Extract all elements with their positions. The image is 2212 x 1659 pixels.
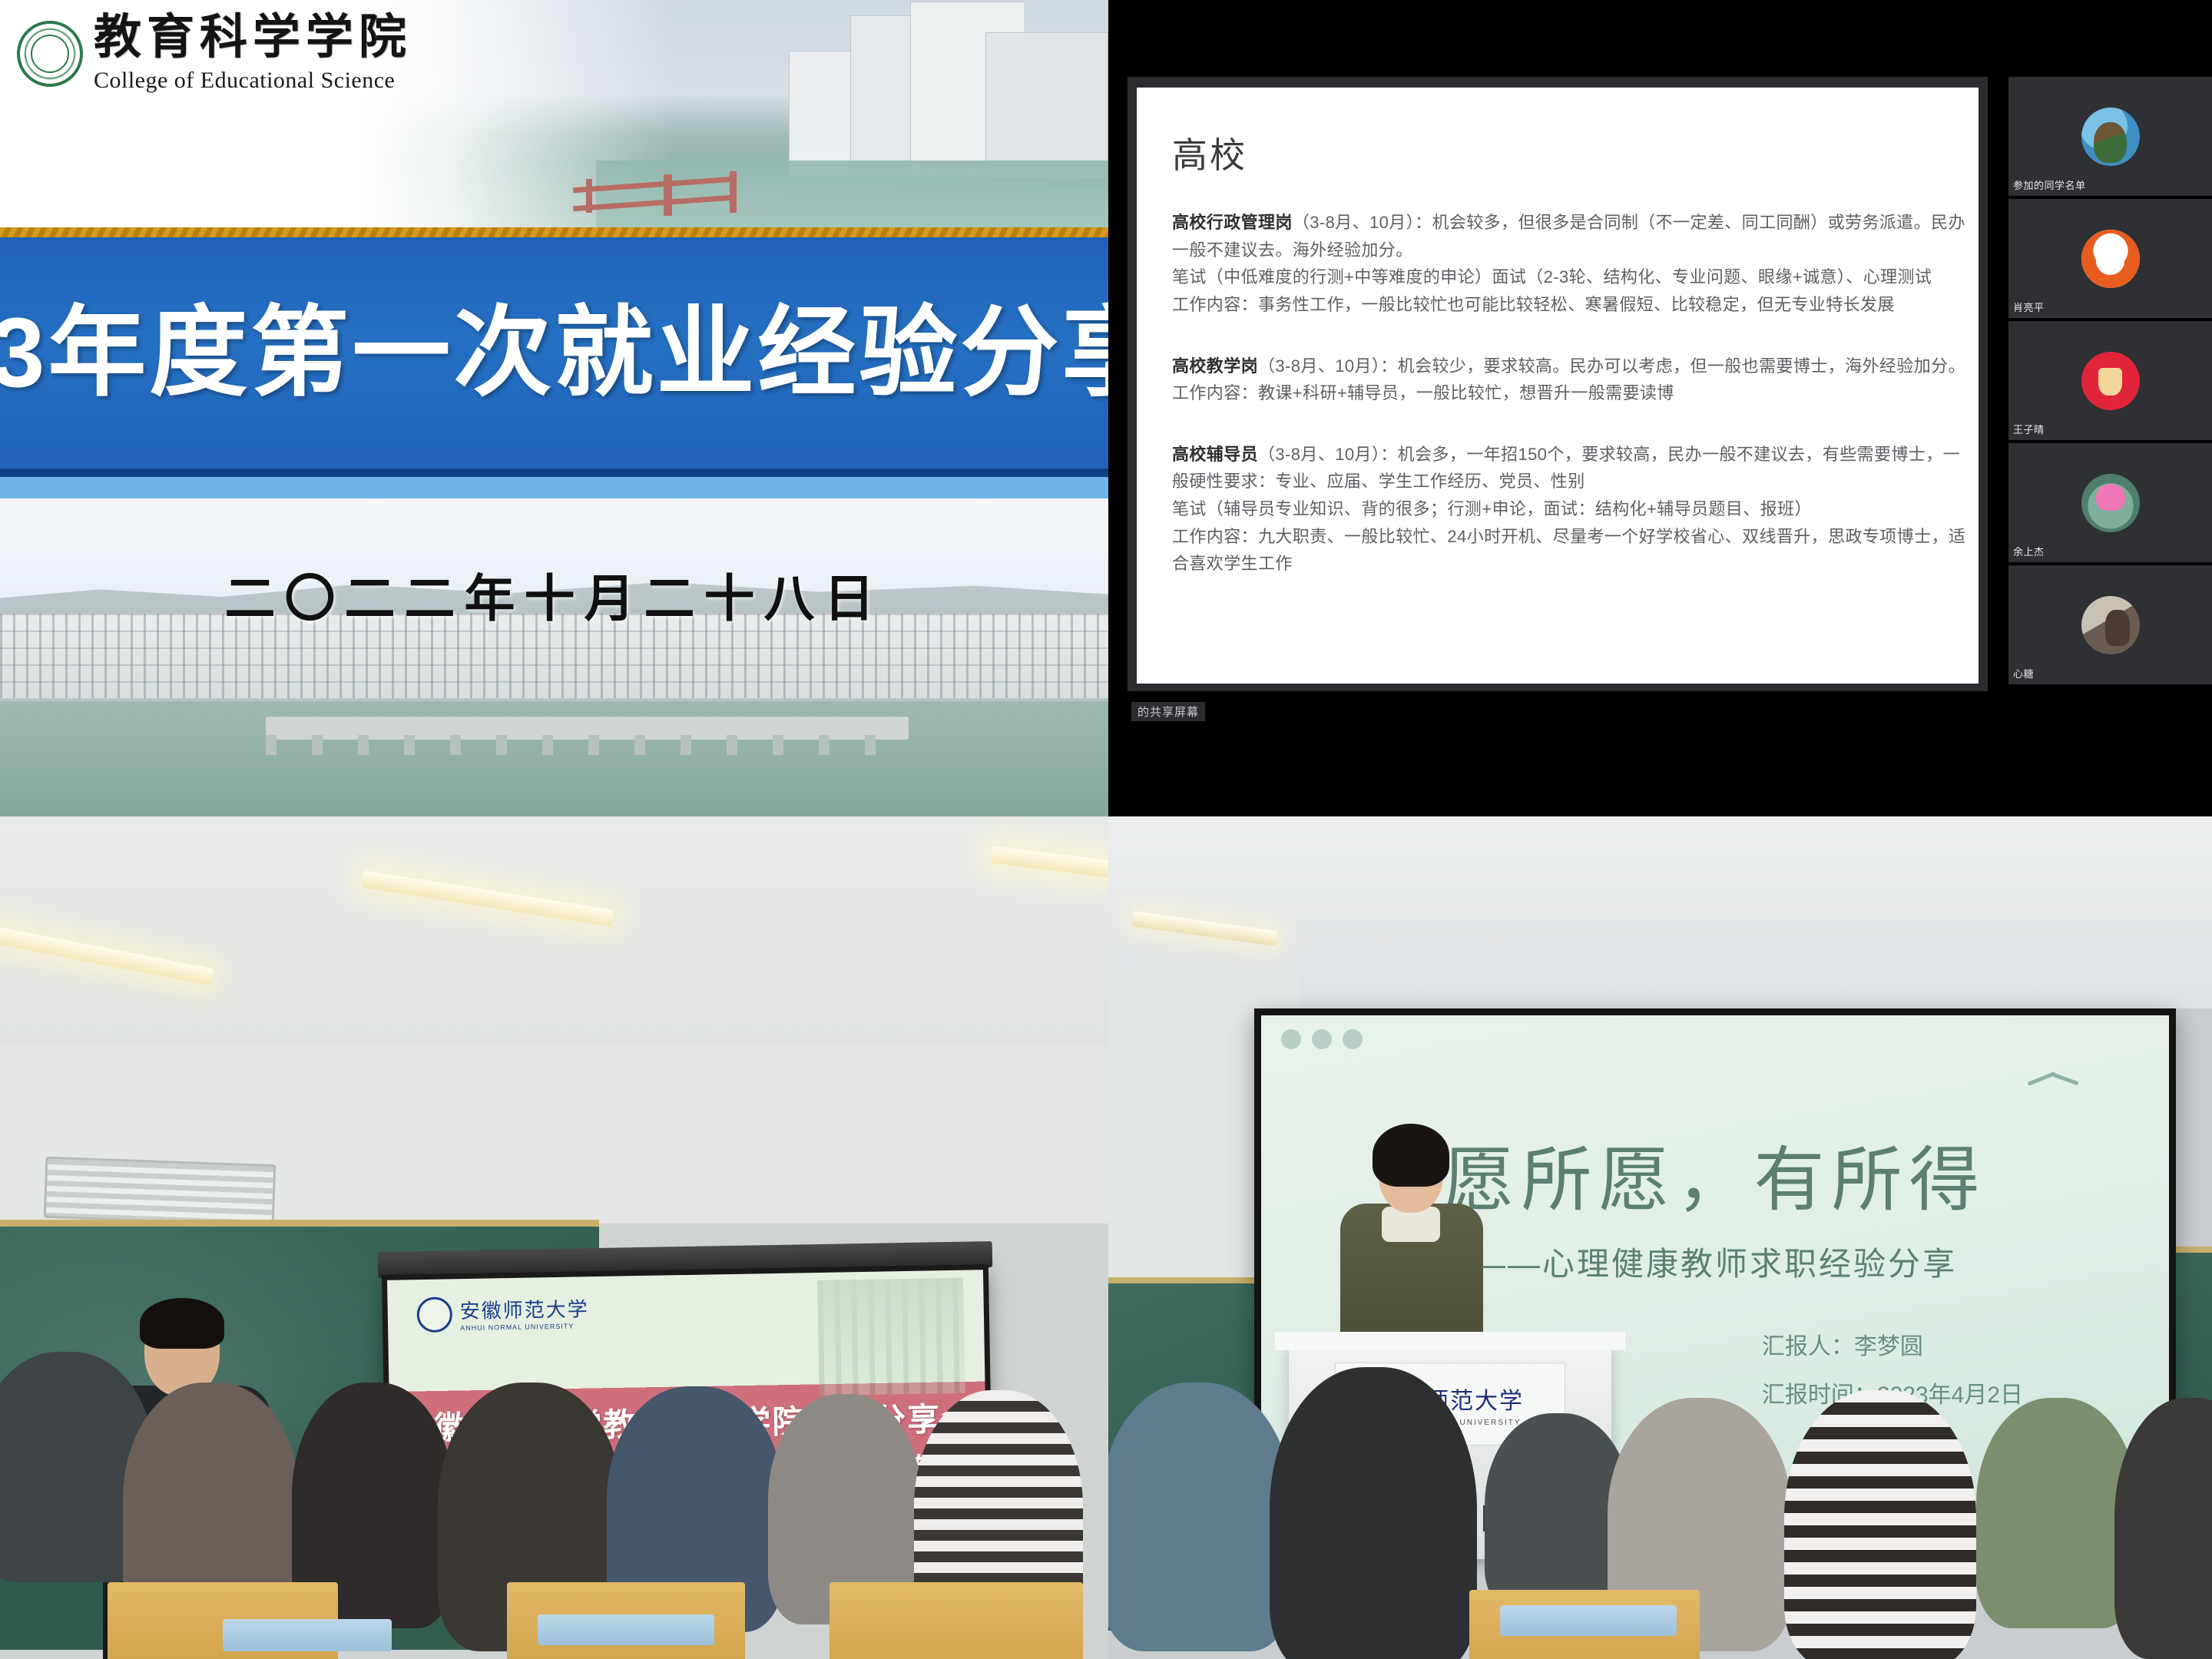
slide-decor-icons [1281, 1029, 1363, 1049]
university-name-cn: 安徽师范大学 [459, 1293, 589, 1324]
participant-tile[interactable]: 心糖 [2008, 565, 2212, 684]
desk [829, 1582, 1083, 1659]
slide-line: 笔试（中低难度的行测+中等难度的申论）面试（2-3轮、结构化、专业问题、眼缘+诚… [1172, 263, 1943, 291]
shared-screen-caption: 的共享屏幕 [1131, 702, 1205, 721]
wooden-rail [573, 174, 734, 217]
avatar [2081, 596, 2140, 654]
participant-name: 肖亮平 [2013, 300, 2045, 314]
panel-online-meeting: 高校 高校行政管理岗（3-8月、10月）：机会较多，但很多是合同制（不一定差、同… [1108, 0, 2212, 816]
panel-classroom-speaker: 愿所愿，有所得 ——心理健康教师求职经验分享 汇报人：李梦圆 汇报时间：2023… [1108, 816, 2212, 1659]
slide-line: 工作内容：事务性工作，一般比较忙也可能比较轻松、寒暑假短、比较稳定，但无专业特长… [1172, 291, 1943, 319]
slide-line: 般硬性要求：专业、应届、学生工作经历、党员、性别 [1172, 468, 1943, 495]
bridge-shape [266, 717, 909, 740]
bird-icon [2027, 1069, 2081, 1094]
avatar [2081, 352, 2140, 410]
audience-person [1108, 1382, 1293, 1651]
slide-building-watermark [817, 1278, 965, 1396]
poster-date: 二〇二二年十月二十八日 [0, 558, 1108, 631]
slide-line: 高校教学岗（3-8月、10月）：机会较少，要求较高。民办可以考虑，但一般也需要博… [1172, 353, 1943, 380]
slide-block: 高校行政管理岗（3-8月、10月）：机会较多，但很多是合同制（不一定差、同工同酬… [1172, 209, 1943, 319]
photo-collage: 教育科学学院 College of Educational Science 23… [0, 0, 2212, 1659]
audience-person [1976, 1398, 2137, 1628]
wall-vent [44, 1157, 276, 1226]
college-seal-icon [17, 21, 83, 87]
desk-surface [223, 1619, 392, 1651]
poster-footer-photo [0, 498, 1108, 816]
poster-campus-photo [355, 0, 1108, 234]
slide-title: 高校 [1172, 127, 1943, 178]
audience-person [1784, 1390, 1976, 1659]
avatar [2081, 474, 2140, 532]
desk-surface [538, 1614, 714, 1645]
banner-underline [0, 469, 1108, 477]
poster-banner-title: 23年度第一次就业经验分享 [0, 304, 1108, 402]
avatar [2081, 230, 2140, 288]
panel-classroom-host: 安徽师范大学 ANHUI NORMAL UNIVERSITY 安徽师范大学教育科… [0, 816, 1108, 1659]
panel-poster: 教育科学学院 College of Educational Science 23… [0, 0, 1108, 816]
slide-line: 笔试（辅导员专业知识、背的很多；行测+申论，面试：结构化+辅导员题目、报班） [1172, 495, 1943, 523]
participant-name: 王子晴 [2013, 422, 2045, 436]
slide-line: 合喜欢学生工作 [1172, 550, 1943, 578]
slide-line: 工作内容：教课+科研+辅导员，一般比较忙，想晋升一般需要读博 [1172, 379, 1943, 407]
slide-block: 高校辅导员（3-8月、10月）：机会多，一年招150个，要求较高，民办一般不建议… [1172, 441, 1943, 578]
college-name-en: College of Educational Science [94, 68, 412, 94]
university-name-en: ANHUI NORMAL UNIVERSITY [460, 1322, 589, 1332]
slide-line: 一般不建议去。海外经验加分。 [1172, 237, 1943, 264]
podium-top [1275, 1332, 1625, 1350]
speaker-person [1339, 1133, 1485, 1356]
participant-name: 余上杰 [2013, 544, 2045, 558]
gold-divider [0, 227, 1108, 237]
meeting-window: 高校 高校行政管理岗（3-8月、10月）：机会较多，但很多是合同制（不一定差、同… [1108, 0, 2212, 816]
shared-screen-frame: 高校 高校行政管理岗（3-8月、10月）：机会较多，但很多是合同制（不一定差、同… [1128, 77, 1988, 691]
slide-line: 工作内容：九大职责、一般比较忙、24小时开机、尽量考一个好学校省心、双线晋升，思… [1172, 523, 1943, 551]
participant-tile[interactable]: 王子晴 [2008, 321, 2212, 440]
shared-slide: 高校 高校行政管理岗（3-8月、10月）：机会较多，但很多是合同制（不一定差、同… [1137, 88, 1979, 684]
avatar [2081, 108, 2140, 166]
slide-line: 高校辅导员（3-8月、10月）：机会多，一年招150个，要求较高，民办一般不建议… [1172, 441, 1943, 469]
participant-tiles: 参加的同学名单 肖亮平 王子晴 余上杰 心糖 [2008, 77, 2212, 687]
college-logo: 教育科学学院 College of Educational Science [17, 14, 412, 94]
slide-reporter: 汇报人：李梦圆 [1762, 1323, 2023, 1371]
building-shape [985, 32, 1108, 178]
building-shape [789, 51, 859, 177]
participant-name: 心糖 [2013, 666, 2034, 680]
participant-tile[interactable]: 肖亮平 [2008, 199, 2212, 318]
banner-underline-light [0, 477, 1108, 498]
participant-name: 参加的同学名单 [2013, 177, 2086, 192]
university-logo: 安徽师范大学 ANHUI NORMAL UNIVERSITY [416, 1293, 589, 1333]
university-seal-icon [416, 1296, 452, 1333]
ceiling [0, 816, 1108, 1070]
poster-banner: 23年度第一次就业经验分享 [0, 237, 1108, 469]
slide-line: 高校行政管理岗（3-8月、10月）：机会较多，但很多是合同制（不一定差、同工同酬… [1172, 209, 1943, 237]
participant-tile[interactable]: 余上杰 [2008, 443, 2212, 562]
desk-surface [1500, 1605, 1677, 1636]
audience-person [1270, 1367, 1477, 1659]
college-name-cn: 教育科学学院 [94, 14, 412, 61]
participant-tile[interactable]: 参加的同学名单 [2008, 77, 2212, 196]
slide-block: 高校教学岗（3-8月、10月）：机会较少，要求较高。民办可以考虑，但一般也需要博… [1172, 353, 1943, 407]
